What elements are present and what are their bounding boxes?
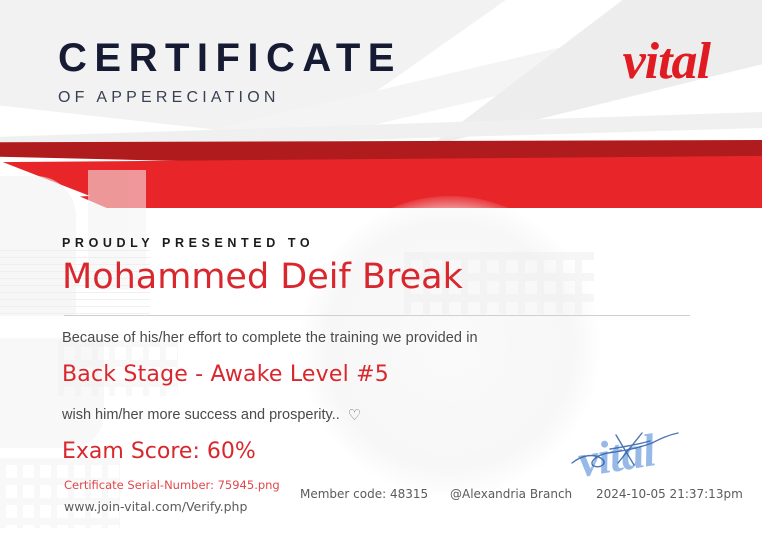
vital-logo: vital [623,36,710,88]
course-name: Back Stage - Awake Level #5 [62,362,762,387]
reason-text: Because of his/her effort to complete th… [62,330,762,346]
member-code: Member code: 48315 [300,487,428,501]
exam-score: Exam Score: 60% [62,439,762,464]
name-underline-rule [64,315,690,316]
red-stripe-notch [0,150,90,200]
certificate-header: CERTIFICATE OF APPERECIATION [58,38,402,107]
wish-block: wish him/her more success and prosperity… [62,407,762,423]
red-stripe-dark [0,140,762,196]
wish-text: wish him/her more success and prosperity… [62,407,340,423]
heart-icon: ♡ [348,408,361,423]
certificate-body: PROUDLY PRESENTED TO Mohammed Deif Break… [62,236,762,464]
certificate-page: CERTIFICATE OF APPERECIATION vital PROUD… [0,0,762,539]
recipient-block: Mohammed Deif Break [62,258,762,302]
issue-timestamp: 2024-10-05 21:37:13pm [596,487,743,501]
watermark-code-texture-bottom [0,458,120,528]
recipient-name: Mohammed Deif Break [62,258,463,297]
page-subtitle: OF APPERECIATION [58,89,402,107]
page-title: CERTIFICATE [58,38,402,78]
grey-sweep-header-right [430,0,762,146]
branch-label: @Alexandria Branch [450,487,572,501]
certificate-serial-number: Certificate Serial-Number: 75945.png [64,478,280,492]
red-stripe-bright [0,146,762,208]
verify-url[interactable]: www.join-vital.com/Verify.php [64,499,247,514]
presented-to-label: PROUDLY PRESENTED TO [62,236,762,250]
grey-band-above-stripe [0,112,762,152]
